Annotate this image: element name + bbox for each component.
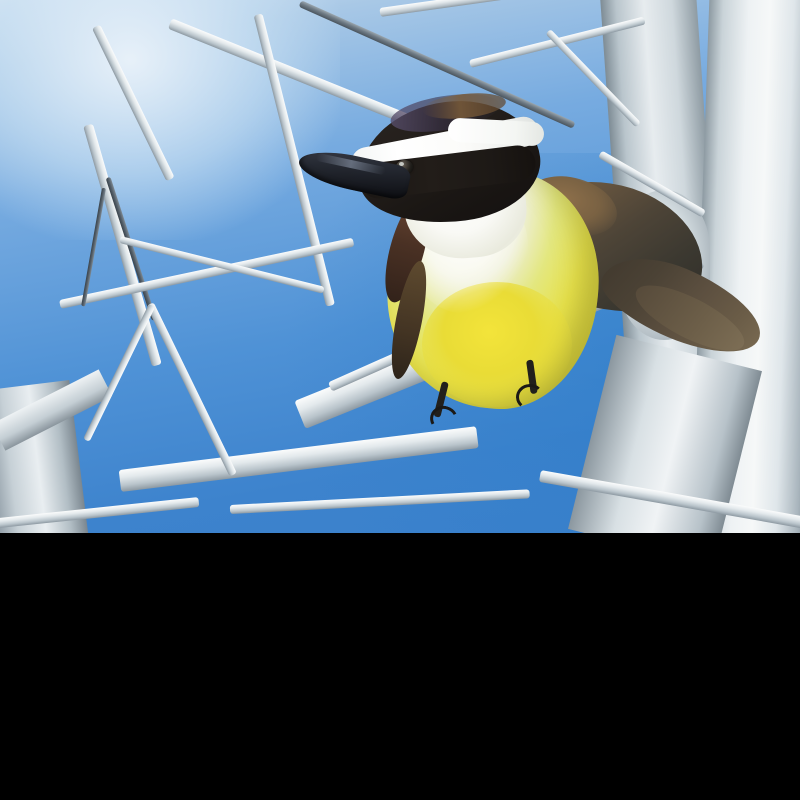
bird-photo-card: Benteveo común Great Kiskadee Pitangus s… xyxy=(0,0,800,800)
bird-foot-rear xyxy=(516,384,545,411)
branch-left-fork xyxy=(146,302,236,476)
branch-top-diagonal-2 xyxy=(379,0,638,17)
bird-supercilium-rear xyxy=(447,118,544,147)
caption-bar: Benteveo común Great Kiskadee Pitangus s… xyxy=(0,533,800,800)
great-kiskadee-bird xyxy=(330,92,702,422)
photograph xyxy=(0,0,800,533)
